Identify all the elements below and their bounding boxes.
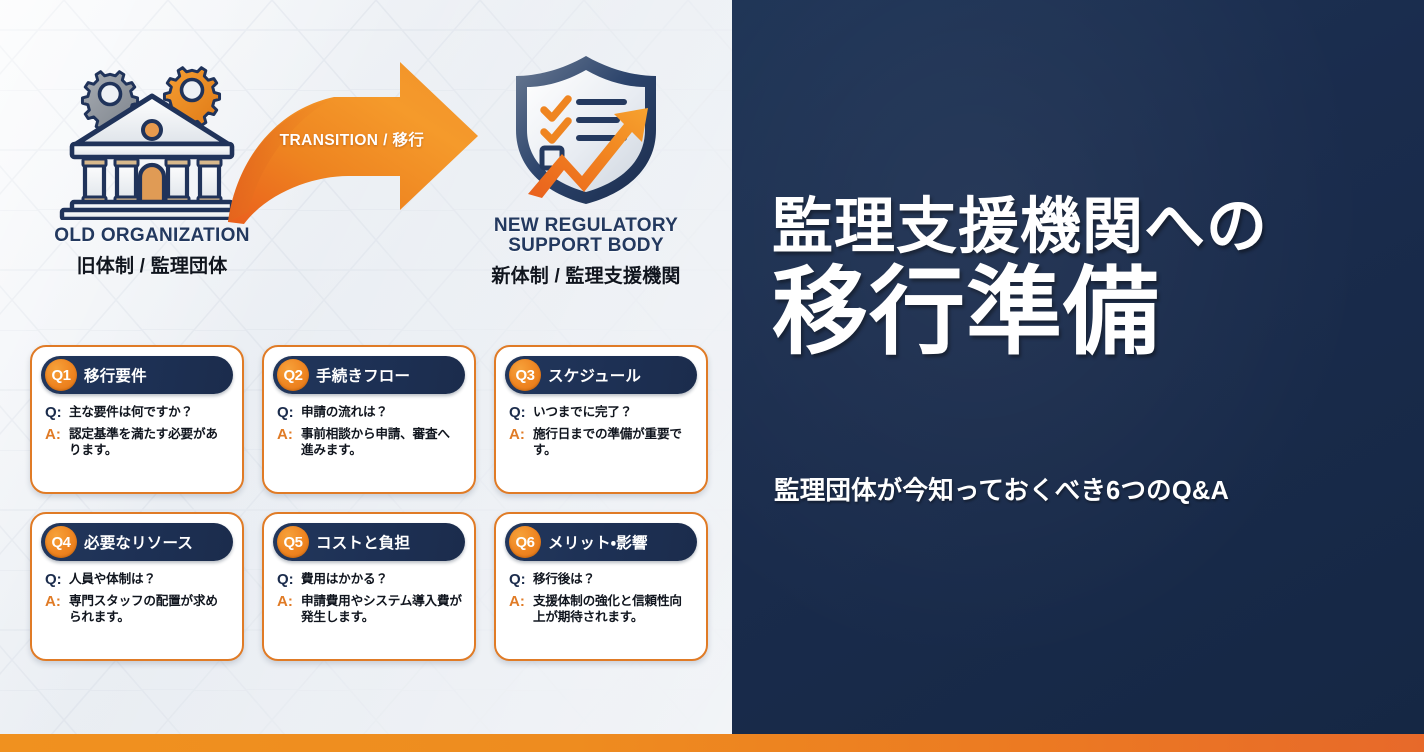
headline-subtitle: 監理団体が今知っておくべき6つのQ&A [774,470,1394,507]
left-content-panel: OLD ORGANIZATION 旧体制 / 監理団体 [0,0,732,734]
question-text: 移行後は？ [533,571,595,587]
answer-row: A: 支援体制の強化と信頼性向上が期待されます。 [509,593,694,626]
new-node-label-en-line1: NEW REGULATORY [452,216,720,236]
old-node-label-en: OLD ORGANIZATION [22,226,282,246]
answer-row: A: 認定基準を満たす必要があります。 [45,426,230,459]
question-text: 主な要件は何ですか？ [69,404,193,420]
right-title-panel: 監理支援機関への 移行準備 監理団体が今知っておくべき6つのQ&A [732,0,1424,734]
headline-block: 監理支援機関への 移行準備 [772,196,1392,361]
infographic-poster: OLD ORGANIZATION 旧体制 / 監理団体 [0,0,1424,752]
qa-card-q5[interactable]: Q5 コストと負担 Q: 費用はかかる？ A: 申請費用やシステム導入費が発生し… [262,512,476,661]
answer-text: 専門スタッフの配置が求められます。 [69,593,230,626]
question-text: 費用はかかる？ [301,571,388,587]
qa-card-title: スケジュール [548,364,641,386]
qa-card-q4[interactable]: Q4 必要なリソース Q: 人員や体制は？ A: 専門スタッフの配置が求められま… [30,512,244,661]
shield-checklist-growth-icon [496,48,676,210]
qa-card-q3[interactable]: Q3 スケジュール Q: いつまでに完了？ A: 施行日までの準備が重要です。 [494,345,708,494]
answer-key: A: [509,593,528,612]
question-text: 人員や体制は？ [69,571,156,587]
question-row: Q: 費用はかかる？ [277,571,462,590]
headline-line-2: 移行準備 [772,265,1392,361]
question-key: Q: [509,404,528,423]
q-number-badge: Q2 [277,359,309,391]
answer-key: A: [45,593,64,612]
q-number-badge: Q5 [277,526,309,558]
curved-transition-arrow-icon [222,52,482,227]
qa-body: Q: 移行後は？ A: 支援体制の強化と信頼性向上が期待されます。 [505,571,697,625]
bottom-accent-bar [0,734,1424,752]
question-row: Q: いつまでに完了？ [509,404,694,423]
qa-body: Q: 費用はかかる？ A: 申請費用やシステム導入費が発生します。 [273,571,465,625]
question-row: Q: 移行後は？ [509,571,694,590]
qa-card-q2[interactable]: Q2 手続きフロー Q: 申請の流れは？ A: 事前相談から申請、審査へ進みます… [262,345,476,494]
new-support-body-node: NEW REGULATORY SUPPORT BODY 新体制 / 監理支援機関 [452,48,720,288]
answer-text: 施行日までの準備が重要です。 [533,426,694,459]
qa-card-grid: Q1 移行要件 Q: 主な要件は何ですか？ A: 認定基準を満たす必要があります… [30,345,710,661]
answer-text: 支援体制の強化と信頼性向上が期待されます。 [533,593,694,626]
question-key: Q: [277,571,296,590]
qa-card-q6[interactable]: Q6 メリット・影響 Q: 移行後は？ A: 支援体制の強化と信頼性向上が期待さ… [494,512,708,661]
qa-body: Q: 人員や体制は？ A: 専門スタッフの配置が求められます。 [41,571,233,625]
qa-card-title: 必要なリソース [84,531,193,553]
question-text: 申請の流れは？ [301,404,388,420]
qa-body: Q: いつまでに完了？ A: 施行日までの準備が重要です。 [505,404,697,458]
question-row: Q: 人員や体制は？ [45,571,230,590]
q-number-badge: Q1 [45,359,77,391]
qa-card-header: Q5 コストと負担 [273,523,465,561]
qa-card-header: Q6 メリット・影響 [505,523,697,561]
answer-key: A: [277,426,296,445]
q-number-badge: Q6 [509,526,541,558]
q-number-badge: Q4 [45,526,77,558]
answer-row: A: 専門スタッフの配置が求められます。 [45,593,230,626]
old-node-label-ja: 旧体制 / 監理団体 [22,251,282,278]
answer-text: 申請費用やシステム導入費が発生します。 [301,593,462,626]
qa-body: Q: 主な要件は何ですか？ A: 認定基準を満たす必要があります。 [41,404,233,458]
new-node-label-en-line2: SUPPORT BODY [452,236,720,256]
answer-key: A: [45,426,64,445]
qa-card-title: 移行要件 [84,364,147,386]
new-node-label-ja: 新体制 / 監理支援機関 [452,261,720,288]
question-key: Q: [277,404,296,423]
question-key: Q: [45,404,64,423]
answer-key: A: [277,593,296,612]
qa-card-header: Q4 必要なリソース [41,523,233,561]
answer-text: 認定基準を満たす必要があります。 [69,426,230,459]
transition-diagram: OLD ORGANIZATION 旧体制 / 監理団体 [0,0,732,320]
qa-card-header: Q2 手続きフロー [273,356,465,394]
qa-card-title: コストと負担 [316,531,410,553]
qa-card-title: 手続きフロー [316,364,410,386]
qa-card-header: Q1 移行要件 [41,356,233,394]
qa-body: Q: 申請の流れは？ A: 事前相談から申請、審査へ進みます。 [273,404,465,458]
qa-card-title: メリット・影響 [548,531,648,553]
question-text: いつまでに完了？ [533,404,632,420]
answer-row: A: 事前相談から申請、審査へ進みます。 [277,426,462,459]
qa-card-header: Q3 スケジュール [505,356,697,394]
qa-card-q1[interactable]: Q1 移行要件 Q: 主な要件は何ですか？ A: 認定基準を満たす必要があります… [30,345,244,494]
question-row: Q: 主な要件は何ですか？ [45,404,230,423]
answer-row: A: 申請費用やシステム導入費が発生します。 [277,593,462,626]
answer-row: A: 施行日までの準備が重要です。 [509,426,694,459]
answer-text: 事前相談から申請、審査へ進みます。 [301,426,462,459]
question-key: Q: [509,571,528,590]
question-row: Q: 申請の流れは？ [277,404,462,423]
answer-key: A: [509,426,528,445]
headline-line-1: 監理支援機関への [772,196,1392,257]
question-key: Q: [45,571,64,590]
q-number-badge: Q3 [509,359,541,391]
